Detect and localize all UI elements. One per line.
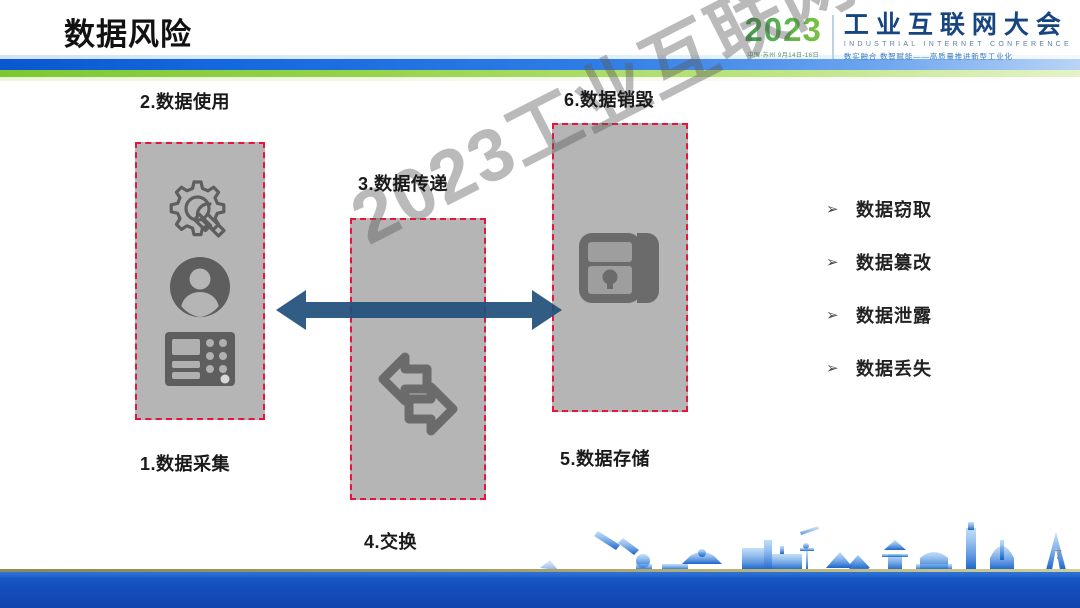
- box-label-exchange: 4.交换: [364, 528, 417, 554]
- box-label-data-destroy: 6.数据销毁: [564, 86, 654, 112]
- chevron-right-icon: ➢: [826, 359, 856, 377]
- gear-wrench-icon: [163, 174, 237, 244]
- risk-label: 数据篡改: [856, 249, 932, 275]
- list-item[interactable]: ➢ 数据丢失: [826, 355, 932, 381]
- page-title: 数据风险: [64, 18, 192, 52]
- box-data-destroy-store[interactable]: [552, 123, 688, 412]
- header-green-fade-band: [0, 77, 1080, 81]
- box-data-collection-use[interactable]: [135, 142, 265, 420]
- risk-list: ➢ 数据窃取 ➢ 数据篡改 ➢ 数据泄露 ➢ 数据丢失: [826, 196, 932, 408]
- list-item[interactable]: ➢ 数据窃取: [826, 196, 932, 222]
- chevron-right-icon: ➢: [826, 200, 856, 218]
- logo-year-subtitle: 中国·苏州 9月14日-16日: [747, 50, 819, 59]
- conference-logo: 2023 中国·苏州 9月14日-16日 工业互联网大会 INDUSTRIAL …: [744, 13, 1072, 62]
- header-green-band: [0, 70, 1080, 77]
- footer-gold-line: [0, 569, 1080, 572]
- exchange-arrows-icon: [363, 339, 473, 449]
- logo-name-block: 工业互联网大会 INDUSTRIAL INTERNET CONFERENCE 数…: [834, 13, 1072, 62]
- list-item[interactable]: ➢ 数据篡改: [826, 249, 932, 275]
- risk-label: 数据窃取: [856, 196, 932, 222]
- machine-icon: [163, 330, 237, 388]
- page-number: 7: [1055, 547, 1062, 562]
- logo-year-block: 2023 中国·苏州 9月14日-16日: [744, 13, 831, 59]
- risk-label: 数据丢失: [856, 355, 932, 381]
- chevron-right-icon: ➢: [826, 253, 856, 271]
- risk-label: 数据泄露: [856, 302, 932, 328]
- bidirectional-arrow: [276, 286, 562, 339]
- chevron-right-icon: ➢: [826, 306, 856, 324]
- slide-canvas: 数据风险 2023 中国·苏州 9月14日-16日 工业互联网大会 INDUST…: [0, 0, 1080, 608]
- box-icon-stack: [554, 125, 686, 410]
- logo-slogan: 数实融合 数智赋能——高质量推进新型工业化: [844, 51, 1072, 62]
- logo-name-cn: 工业互联网大会: [844, 13, 1072, 38]
- person-icon: [169, 256, 231, 318]
- list-item[interactable]: ➢ 数据泄露: [826, 302, 932, 328]
- logo-year: 2023: [744, 13, 821, 46]
- logo-name-en: INDUSTRIAL INTERNET CONFERENCE: [844, 41, 1072, 48]
- box-icon-stack: [137, 144, 263, 418]
- box-label-data-use: 2.数据使用: [140, 88, 230, 114]
- safe-vault-icon: [565, 213, 675, 323]
- box-label-data-storage: 5.数据存储: [560, 445, 650, 471]
- box-label-data-transfer: 3.数据传递: [358, 170, 448, 196]
- box-icon-stack: [352, 220, 484, 498]
- box-data-transfer-exchange[interactable]: [350, 218, 486, 500]
- box-label-data-collection: 1.数据采集: [140, 450, 230, 476]
